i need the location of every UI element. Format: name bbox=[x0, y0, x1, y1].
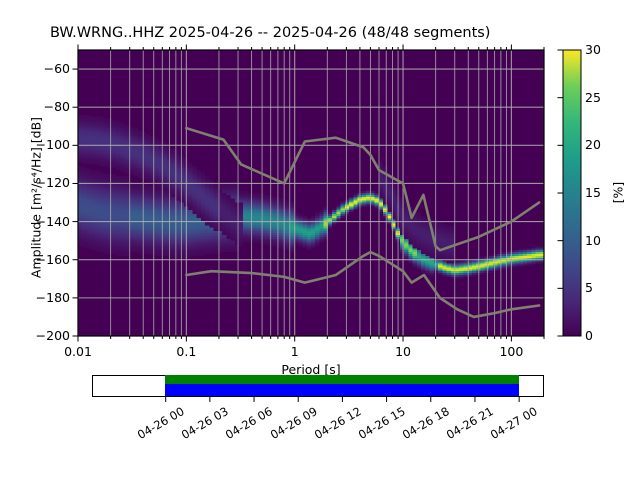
y-axis-ticks bbox=[73, 69, 79, 336]
colorbar-tick-label: 10 bbox=[585, 233, 601, 248]
x-tick-label: 0.1 bbox=[156, 344, 216, 359]
y-tick-label: −180 bbox=[36, 290, 70, 305]
colorbar-ticks bbox=[558, 50, 564, 336]
colorbar-gradient bbox=[563, 50, 581, 336]
y-tick-label: −80 bbox=[44, 99, 70, 114]
coverage-bar[interactable] bbox=[92, 375, 544, 397]
colorbar-tick-label: 20 bbox=[585, 137, 601, 152]
y-tick-label: −100 bbox=[36, 137, 70, 152]
y-tick-label: −120 bbox=[36, 175, 70, 190]
colorbar-tick-label: 0 bbox=[585, 328, 593, 343]
x-tick-label: 10 bbox=[373, 344, 433, 359]
coverage-segment-blue bbox=[165, 384, 518, 396]
x-tick-label: 0.01 bbox=[48, 344, 108, 359]
colorbar-tick-label: 15 bbox=[585, 185, 601, 200]
y-tick-label: −60 bbox=[44, 61, 70, 76]
y-tick-label: −160 bbox=[36, 252, 70, 267]
y-axis-label: Amplitude [m²/s⁴/Hz] [dB] bbox=[29, 98, 44, 298]
x-tick-label: 1 bbox=[265, 344, 325, 359]
colorbar-label: [%] bbox=[611, 153, 626, 233]
page-title: BW.WRNG..HHZ 2025-04-26 -- 2025-04-26 (4… bbox=[50, 25, 490, 41]
colorbar-tick-label: 5 bbox=[585, 280, 593, 295]
colorbar-tick-label: 25 bbox=[585, 90, 601, 105]
timeline-ticks bbox=[166, 397, 519, 402]
y-tick-label: −140 bbox=[36, 214, 70, 229]
ppsd-figure bbox=[0, 0, 640, 480]
coverage-segment-green bbox=[165, 375, 518, 384]
x-tick-label: 100 bbox=[481, 344, 541, 359]
y-tick-label: −200 bbox=[36, 328, 70, 343]
colorbar-tick-label: 30 bbox=[585, 42, 601, 57]
